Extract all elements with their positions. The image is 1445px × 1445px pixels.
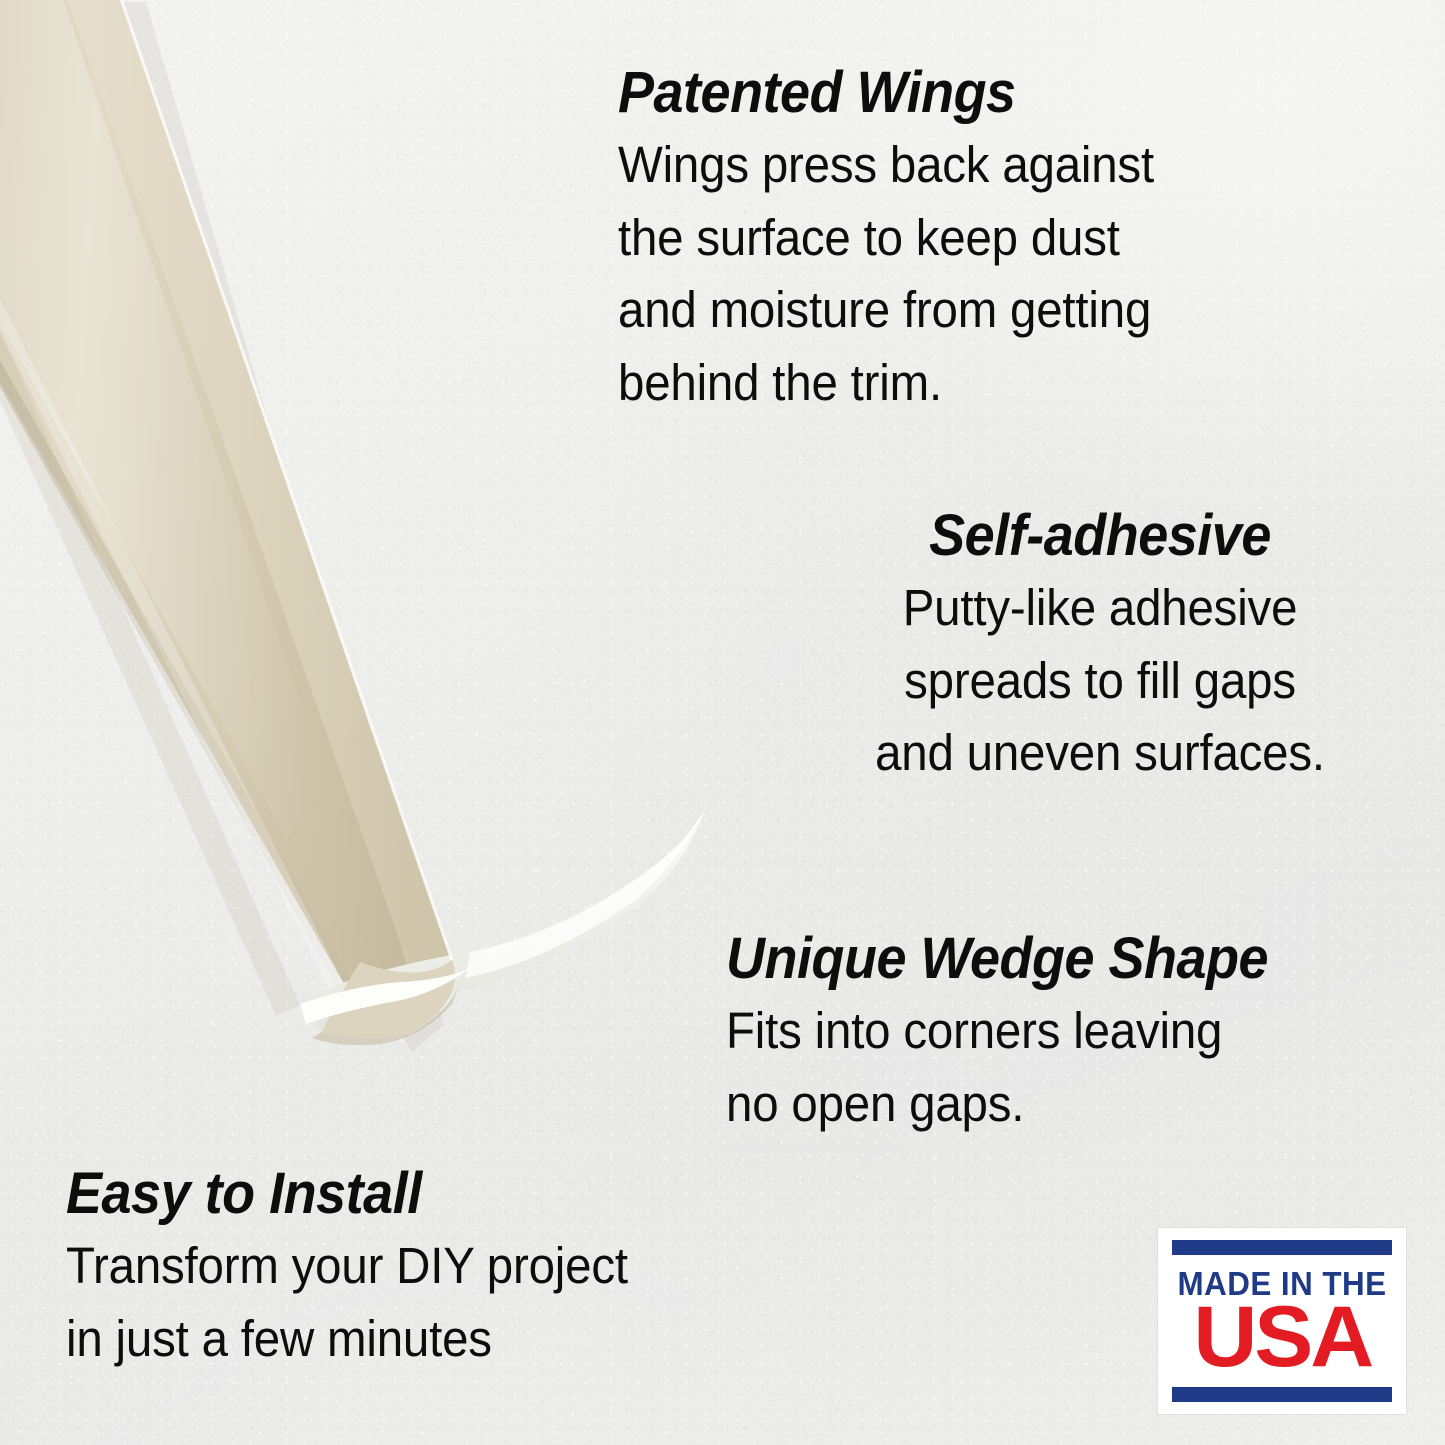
feature-unique-wedge-shape: Unique Wedge Shape Fits into corners lea… xyxy=(726,928,1426,1140)
badge-bottom-bar xyxy=(1172,1387,1392,1402)
badge-text-group: MADE IN THE USA xyxy=(1172,1255,1392,1387)
feature-heading-self-adhesive: Self-adhesive xyxy=(821,505,1379,566)
feature-heading-unique-wedge-shape: Unique Wedge Shape xyxy=(726,928,1377,989)
feature-easy-to-install: Easy to Install Transform your DIY proje… xyxy=(66,1163,826,1375)
badge-top-bar xyxy=(1172,1240,1392,1255)
feature-body-unique-wedge-shape: Fits into corners leavingno open gaps. xyxy=(726,995,1377,1140)
feature-patented-wings: Patented Wings Wings press back againstt… xyxy=(618,62,1318,419)
feature-self-adhesive: Self-adhesive Putty-like adhesivespreads… xyxy=(800,505,1400,790)
feature-body-self-adhesive: Putty-like adhesivespreads to fill gapsa… xyxy=(821,572,1379,789)
feature-body-patented-wings: Wings press back againstthe surface to k… xyxy=(618,129,1269,419)
made-in-usa-badge: MADE IN THE USA xyxy=(1158,1228,1406,1414)
adhesive-backing-highlight xyxy=(466,806,706,978)
feature-heading-easy-to-install: Easy to Install xyxy=(66,1163,773,1224)
badge-usa-text: USA xyxy=(1193,1298,1371,1377)
infographic-canvas: Patented Wings Wings press back againstt… xyxy=(0,0,1445,1445)
feature-heading-patented-wings: Patented Wings xyxy=(618,62,1269,123)
feature-body-easy-to-install: Transform your DIY projectin just a few … xyxy=(66,1230,773,1375)
